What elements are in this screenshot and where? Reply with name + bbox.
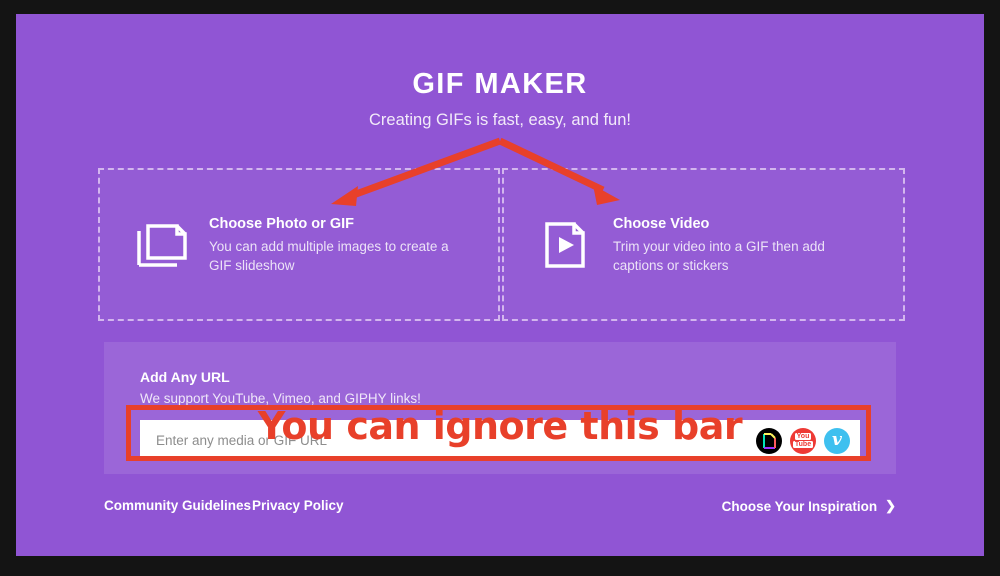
giphy-icon[interactable] (756, 428, 782, 454)
choose-video-description: Trim your video into a GIF then add capt… (613, 237, 853, 275)
youtube-icon-bottom-text: Tube (793, 441, 813, 448)
page-title: GIF MAKER (16, 68, 984, 101)
community-guidelines-link[interactable]: Community Guidelines (104, 498, 251, 513)
video-file-play-icon (539, 217, 595, 273)
gif-maker-page: GIF MAKER Creating GIFs is fast, easy, a… (16, 14, 984, 556)
screenshot-root: GIF MAKER Creating GIFs is fast, easy, a… (0, 0, 1000, 576)
choose-photo-or-gif-option[interactable]: Choose Photo or GIF You can add multiple… (98, 168, 500, 321)
photo-stack-icon (135, 217, 191, 273)
choose-video-option[interactable]: Choose Video Trim your video into a GIF … (502, 168, 905, 321)
url-input[interactable] (156, 433, 756, 448)
add-any-url-panel: Add Any URL We support YouTube, Vimeo, a… (104, 342, 896, 474)
choose-your-inspiration-link[interactable]: Choose Your Inspiration ❯ (722, 498, 896, 514)
choose-photo-heading: Choose Photo or GIF (209, 216, 449, 232)
choose-photo-text-block: Choose Photo or GIF You can add multiple… (209, 214, 449, 275)
privacy-policy-link[interactable]: Privacy Policy (252, 498, 344, 513)
vimeo-icon-glyph: v (832, 430, 842, 450)
vimeo-icon[interactable]: v (824, 428, 850, 454)
url-input-container[interactable]: You Tube v (140, 420, 860, 461)
choose-your-inspiration-label: Choose Your Inspiration (722, 499, 878, 514)
choose-video-heading: Choose Video (613, 216, 853, 232)
add-any-url-subheading: We support YouTube, Vimeo, and GIPHY lin… (140, 391, 421, 406)
supported-brand-icons: You Tube v (756, 428, 850, 454)
chevron-right-icon: ❯ (885, 498, 896, 514)
youtube-icon-top-text: You (795, 433, 812, 440)
choose-video-text-block: Choose Video Trim your video into a GIF … (613, 214, 853, 275)
add-any-url-heading: Add Any URL (140, 369, 230, 385)
page-subtitle: Creating GIFs is fast, easy, and fun! (16, 111, 984, 130)
choose-photo-description: You can add multiple images to create a … (209, 237, 449, 275)
youtube-icon[interactable]: You Tube (790, 428, 816, 454)
